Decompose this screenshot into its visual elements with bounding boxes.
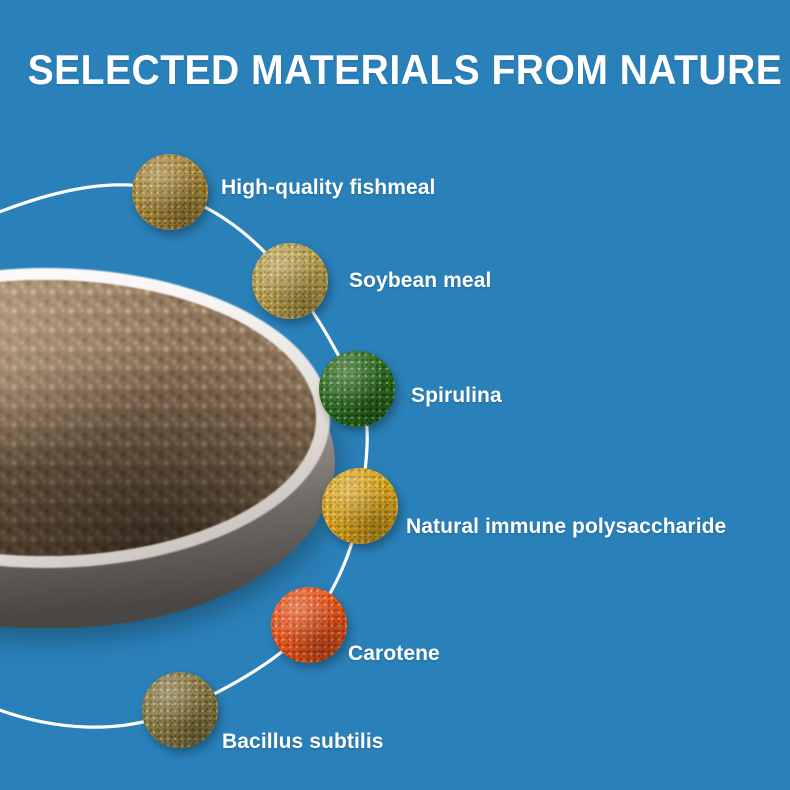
swatch-sheen	[319, 351, 395, 427]
ingredient-label-carotene: Carotene	[348, 641, 440, 667]
ingredient-swatch-carotene[interactable]	[271, 587, 347, 663]
swatch-sheen	[252, 243, 328, 319]
feed-pellets-texture	[0, 280, 316, 556]
page-title: SELECTED MATERIALS FROM NATURE	[28, 46, 763, 94]
ingredient-label-high-quality-fishmeal: High-quality fishmeal	[221, 175, 435, 201]
ingredient-label-bacillus-subtilis: Bacillus subtilis	[222, 729, 384, 755]
swatch-sheen	[132, 154, 208, 230]
ingredient-swatch-spirulina[interactable]	[319, 351, 395, 427]
ingredient-swatch-soybean-meal[interactable]	[252, 243, 328, 319]
ingredient-swatch-high-quality-fishmeal[interactable]	[132, 154, 208, 230]
swatch-sheen	[142, 672, 218, 748]
ingredient-label-spirulina: Spirulina	[411, 383, 502, 409]
bowl-base	[0, 298, 335, 628]
pellets-shading	[0, 280, 316, 556]
depth-of-field-blur	[0, 280, 316, 556]
ingredient-label-natural-immune-polysaccharide: Natural immune polysaccharide	[406, 514, 726, 540]
connector-arc	[0, 0, 790, 790]
bowl-inner-pellets	[0, 280, 316, 556]
ingredient-swatch-natural-immune-polysaccharide[interactable]	[322, 468, 398, 544]
ingredient-label-soybean-meal: Soybean meal	[349, 268, 491, 294]
ingredient-swatch-bacillus-subtilis[interactable]	[142, 672, 218, 748]
swatch-sheen	[322, 468, 398, 544]
infographic-poster: SELECTED MATERIALS FROM NATURE High-qual…	[0, 0, 790, 790]
swatch-sheen	[271, 587, 347, 663]
